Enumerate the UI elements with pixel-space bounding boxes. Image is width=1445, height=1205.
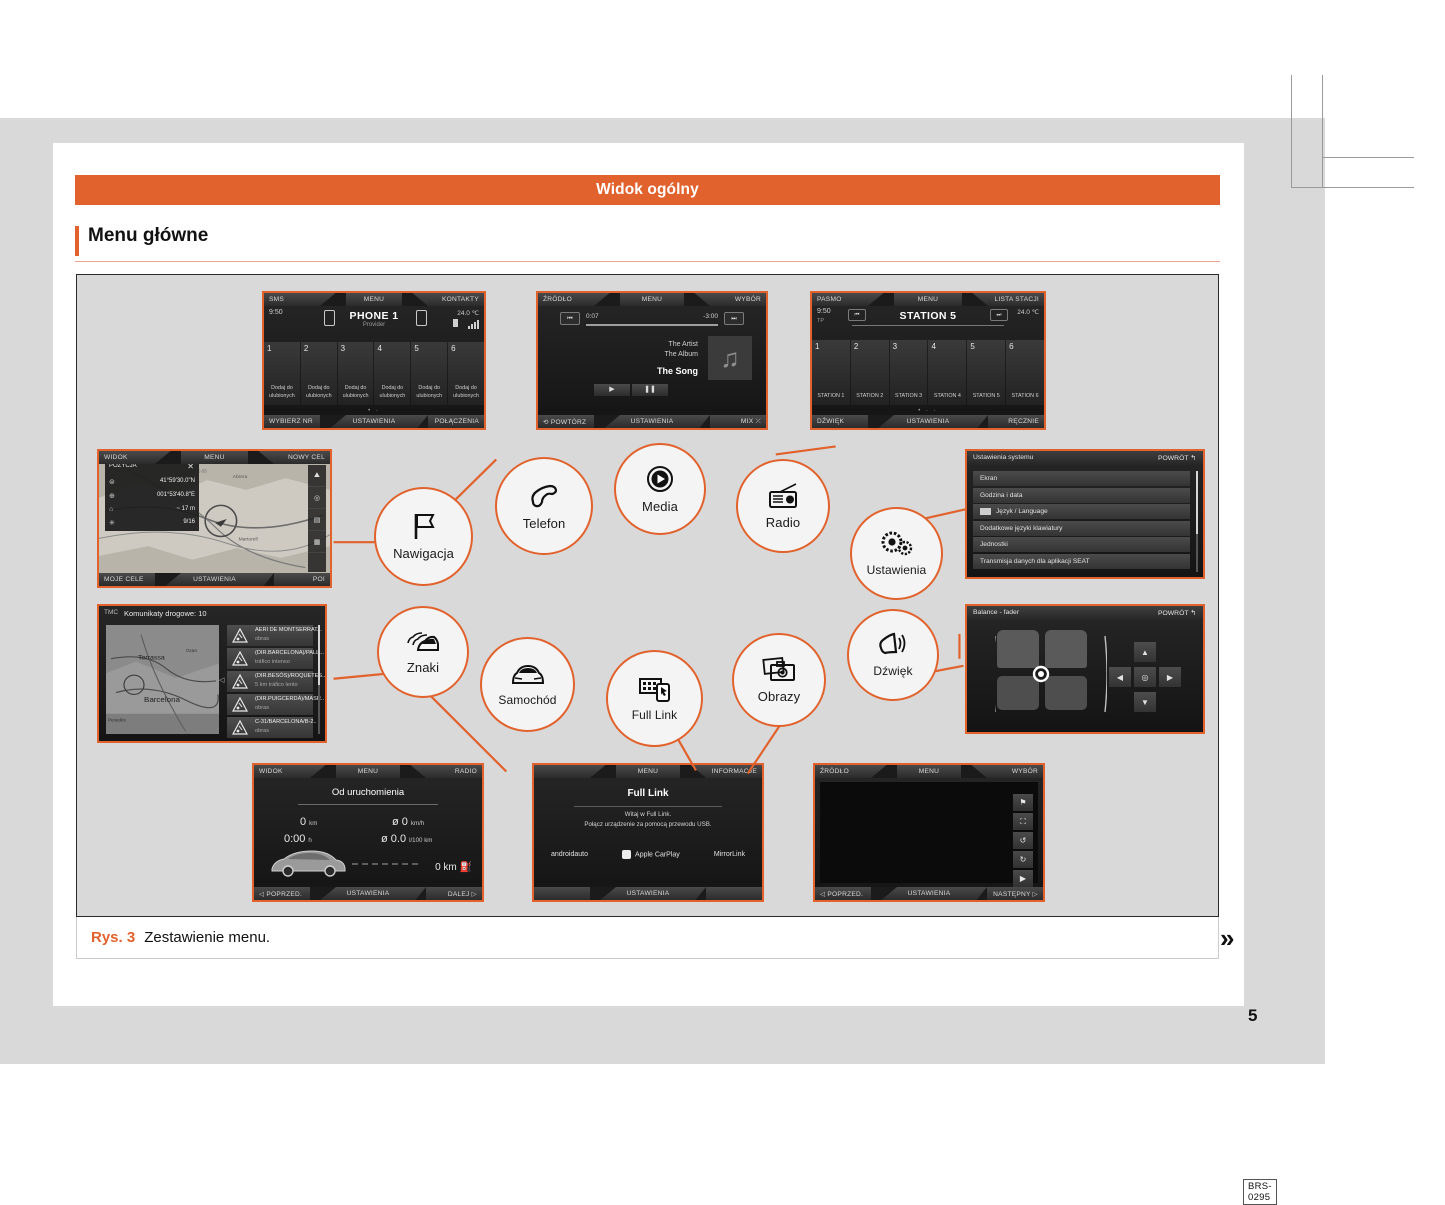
svg-text:Barcelona: Barcelona — [144, 695, 181, 704]
node-telefon[interactable]: Telefon — [495, 457, 593, 555]
node-znaki[interactable]: Znaki — [377, 606, 469, 698]
media-bottom-center[interactable]: USTAWIENIA — [538, 418, 766, 425]
phone-favourite-3[interactable]: 3 Dodaj do ulubionych — [338, 342, 374, 405]
preset-number: 5 — [414, 344, 418, 353]
carplay-chip-icon — [622, 850, 631, 859]
compass-icon[interactable]: ◎ — [308, 487, 326, 509]
fulllink-welcome: Witaj w Full Link. — [534, 811, 762, 818]
page-header-bar: Widok ogólny — [75, 175, 1220, 205]
radio-pager-dots: • · · — [812, 408, 1044, 414]
screen-images[interactable]: ŹRÓDŁO MENU WYBÓR ⚑ ⛶ ↺ ↻ ▶ ◁ POPRZED. U… — [813, 763, 1045, 902]
screen-media[interactable]: ŹRÓDŁO MENU WYBÓR ⏮ 0:07 -3:00 ⏭ The Art… — [536, 291, 768, 430]
media-album: The Album — [578, 350, 698, 360]
shuffle-icon: ⤫ — [753, 418, 761, 425]
trip-top-center[interactable]: MENU — [254, 768, 482, 775]
settings-back-label: POWRÓT — [1158, 455, 1188, 462]
trip-range: 0 km ⛽ — [435, 862, 472, 873]
images-top-right[interactable]: WYBÓR — [1012, 768, 1038, 775]
images-top-center[interactable]: MENU — [815, 768, 1043, 775]
balance-fader-header: Balance - fader POWRÓT ↰ — [967, 606, 1203, 620]
node-label: Full Link — [632, 708, 678, 722]
navigation-top-right[interactable]: NOWY CEL — [288, 454, 325, 461]
fuel-pump-icon: ⛽ — [460, 862, 472, 873]
media-transport-controls: ▶ ❚❚ — [594, 384, 668, 396]
balance-fader-title: Balance - fader — [973, 609, 1019, 616]
fullscreen-tool-icon[interactable]: ⛶ — [1013, 813, 1033, 830]
settings-row-language[interactable]: Język / Language — [973, 504, 1190, 519]
play-circle-icon — [646, 465, 674, 497]
phone-bottom-bar: WYBIERZ NR USTAWIENIA POŁĄCZENIA — [264, 415, 484, 428]
radio-presets-row: 1 STATION 1 2 STATION 2 3 STATION 3 4 ST… — [812, 340, 1044, 405]
radio-top-right[interactable]: LISTA STACJI — [994, 296, 1039, 303]
trip-bottom-right[interactable]: DALEJ ▷ — [448, 890, 477, 898]
preset-label: Dodaj do ulubionych — [264, 385, 300, 400]
phone-title: PHONE 1 — [264, 310, 484, 322]
apple-carplay-logo: Apple CarPlay — [622, 850, 680, 859]
collapse-left-icon[interactable]: ◁ — [219, 676, 224, 684]
tmc-item[interactable]: AERI DE MONTSERRAT... obras — [227, 625, 313, 646]
trip-avg-consumption: ø 0.0l/100 km — [381, 829, 432, 847]
screen-radio[interactable]: PASMO MENU LISTA STACJI 9:50 TP ⏮ STATIO… — [810, 291, 1046, 430]
images-top-bar: ŹRÓDŁO MENU WYBÓR — [815, 765, 1043, 778]
phone-favourite-2[interactable]: 2 Dodaj do ulubionych — [301, 342, 337, 405]
mirrorlink-logo: MirrorLink — [714, 851, 745, 858]
tmc-header: TMC Komunikaty drogowe: 10 — [99, 606, 325, 621]
navigation-top-bar: WIDOK MENU NOWY CEL — [99, 451, 330, 464]
roadworks-warning-icon — [232, 674, 248, 689]
phone-status-area: 9:50 PHONE 1 Provider 24.0 ℃ — [264, 306, 484, 338]
settings-row-label: Jednostki — [980, 541, 1008, 548]
radio-bottom-bar: DŹWIĘK USTAWIENIA RĘCZNIE — [812, 415, 1044, 428]
node-label: Obrazy — [758, 689, 801, 704]
settings-row-keyboard-languages[interactable]: Dodatkowe języki klawiatury — [973, 521, 1190, 536]
trip-body: Od uruchomienia 0km 0:00h ø 0km/h ø 0.0l… — [254, 778, 482, 887]
trip-avg-speed-value: ø 0 — [392, 816, 408, 828]
crop-mark-vertical-1 — [1291, 75, 1292, 188]
settings-back-button[interactable]: POWRÓT ↰ — [1158, 454, 1196, 462]
roadworks-warning-icon — [232, 697, 248, 712]
preset-number: 6 — [1009, 342, 1013, 351]
balance-right-button[interactable]: ▶ — [1159, 667, 1181, 687]
position-row-gps: ✳ 9/16 — [109, 518, 195, 531]
section-accent-bar — [75, 226, 79, 256]
node-label: Ustawienia — [867, 563, 927, 577]
balance-fader-dpad: ▲ ◀ ◎ ▶ ▼ — [1109, 642, 1181, 712]
settings-title: Ustawienia systemu — [973, 454, 1033, 461]
media-body: ⏮ 0:07 -3:00 ⏭ The Artist The Album The … — [538, 306, 766, 415]
trip-bottom-bar: ◁ POPRZED. USTAWIENIA DALEJ ▷ — [254, 887, 482, 900]
tmc-item-title: (DIR.BARCELONA)/PALL... — [255, 650, 324, 656]
fulllink-bottom-center[interactable]: USTAWIENIA — [534, 890, 762, 897]
trip-title: Od uruchomienia — [254, 787, 482, 798]
balance-point-icon — [995, 630, 1107, 718]
fulllink-top-bar: MENU INFORMACJE — [534, 765, 762, 778]
roadworks-warning-icon — [232, 651, 248, 666]
media-progress-area: ⏮ 0:07 -3:00 ⏭ — [560, 313, 744, 331]
phone-temperature: 24.0 ℃ — [457, 309, 479, 317]
preset-label: STATION 4 — [928, 393, 966, 400]
fulllink-divider — [574, 806, 722, 807]
phone-provider: Provider — [264, 322, 484, 328]
signal-bars-icon — [468, 320, 479, 329]
phone-favourite-1[interactable]: 1 Dodaj do ulubionych — [264, 342, 300, 405]
position-row-latitude: ⊜ 41°59'30.0"N — [109, 477, 195, 490]
skip-back-icon[interactable]: ⏮ — [560, 312, 580, 325]
fulllink-top-right[interactable]: INFORMACJE — [712, 768, 757, 775]
media-top-bar: ŹRÓDŁO MENU WYBÓR — [538, 293, 766, 306]
cars-stack-icon — [406, 630, 440, 658]
media-progress-bar[interactable] — [586, 324, 718, 326]
radio-status-area: 9:50 TP ⏮ STATION 5 ⏭ 24.0 ℃ — [812, 306, 1044, 336]
node-label: Samochód — [498, 693, 556, 707]
fader-up-button[interactable]: ▲ — [1134, 642, 1156, 662]
media-elapsed: 0:07 — [586, 313, 599, 320]
tmc-item[interactable]: (DIR.BARCELONA)/PALL... tráfico intenso — [227, 648, 313, 669]
balance-fader-back-button[interactable]: POWRÓT ↰ — [1158, 609, 1196, 617]
photos-camera-icon — [762, 657, 796, 687]
radio-temperature: 24.0 ℃ — [1017, 308, 1039, 316]
tmc-message-list: AERI DE MONTSERRAT... obras (DIR.BARCELO… — [227, 625, 313, 734]
gps-icon: ✳ — [109, 519, 115, 527]
speaker-waves-icon — [877, 632, 909, 662]
preset-number: 6 — [451, 344, 455, 353]
flag-icon — [980, 508, 991, 515]
car-side-icon — [268, 847, 348, 877]
settings-row-label: Transmisja danych dla aplikacji SEAT — [980, 558, 1090, 565]
node-obrazy[interactable]: Obrazy — [732, 633, 826, 727]
screen-system-settings[interactable]: Ustawienia systemu POWRÓT ↰ Ekran Godzin… — [965, 449, 1205, 579]
layers-icon[interactable]: ▦ — [308, 531, 326, 553]
android-auto-logo: androidauto — [551, 851, 588, 858]
trip-avg-consumption-value: ø 0.0 — [381, 833, 406, 845]
figure-code: BRS-0295 — [1243, 1179, 1277, 1205]
node-label: Dźwięk — [873, 664, 912, 678]
longitude-icon: ⊕ — [109, 492, 115, 500]
figure-diagram: SMS MENU KONTAKTY 9:50 PHONE 1 Provider … — [76, 274, 1219, 917]
phone-favourite-6[interactable]: 6 Dodaj do ulubionych — [448, 342, 484, 405]
altitude-icon: ⌂ — [109, 506, 113, 513]
radio-bottom-right[interactable]: RĘCZNIE — [1008, 418, 1039, 425]
trip-avg-speed: ø 0km/h — [392, 812, 424, 830]
node-nawigacja[interactable]: Nawigacja — [374, 487, 473, 586]
phone-body: 9:50 PHONE 1 Provider 24.0 ℃ 1 Dodaj do … — [264, 306, 484, 415]
phone-favourites-row: 1 Dodaj do ulubionych 2 Dodaj do ulubion… — [264, 342, 484, 405]
node-label: Media — [642, 499, 678, 514]
radio-seek-up-icon[interactable]: ⏭ — [990, 309, 1008, 321]
fulllink-title: Full Link — [534, 788, 762, 799]
tmc-item-sub: 5 km tráfico lento — [255, 682, 298, 688]
preset-label: STATION 2 — [851, 393, 889, 400]
radio-preset-5[interactable]: 5 STATION 5 — [967, 340, 1005, 405]
media-artist: The Artist — [578, 340, 698, 350]
return-arrow-icon: ↰ — [1190, 455, 1196, 462]
preset-number: 3 — [893, 342, 897, 351]
radio-preset-4[interactable]: 4 STATION 4 — [928, 340, 966, 405]
radio-preset-3[interactable]: 3 STATION 3 — [890, 340, 928, 405]
screen-trip-computer[interactable]: WIDOK MENU RADIO Od uruchomienia 0km 0:0… — [252, 763, 484, 902]
preset-number: 1 — [815, 342, 819, 351]
figure-caption: Rys. 3 Zestawienie menu. — [76, 917, 1219, 959]
position-panel: POZYCJA ✕ ⊜ 41°59'30.0"N ⊕ 001°53'40.8"E… — [105, 461, 199, 531]
trip-time-unit: h — [308, 837, 311, 844]
latitude-value: 41°59'30.0"N — [160, 478, 195, 484]
preset-label: STATION 1 — [812, 393, 850, 400]
scale-icon[interactable]: ▤ — [308, 509, 326, 531]
settings-header: Ustawienia systemu POWRÓT ↰ — [967, 451, 1203, 465]
altitude-value: ~ 17 m — [176, 506, 195, 512]
flag-icon — [411, 512, 437, 544]
trip-distance-value: 0 — [300, 816, 306, 828]
radio-body: 9:50 TP ⏮ STATION 5 ⏭ 24.0 ℃ 1 STATION 1… — [812, 306, 1044, 415]
trip-range-value: 0 km — [435, 862, 457, 873]
preset-label: Dodaj do ulubionych — [301, 385, 337, 400]
images-body: ⚑ ⛶ ↺ ↻ ▶ — [815, 778, 1043, 887]
images-bottom-bar: ◁ POPRZED. USTAWIENIA NASTĘPNY ▷ — [815, 887, 1043, 900]
sim-icon — [453, 319, 458, 327]
tmc-item[interactable]: (DIR.BESÓS)/ROQUETES.. 5 km tráfico lent… — [227, 671, 313, 692]
balance-fader-back-label: POWRÓT — [1158, 610, 1188, 617]
page-header-title: Widok ogólny — [596, 181, 699, 199]
tmc-item-sub: obras — [255, 705, 269, 711]
media-metadata: The Artist The Album The Song — [578, 340, 698, 376]
trip-top-bar: WIDOK MENU RADIO — [254, 765, 482, 778]
preset-number: 1 — [267, 344, 271, 353]
continuation-chevron: » — [1220, 925, 1234, 951]
trip-values: 0km 0:00h ø 0km/h ø 0.0l/100 km — [254, 812, 482, 848]
trip-time-value: 0:00 — [284, 833, 305, 845]
pause-icon[interactable]: ❚❚ — [632, 384, 668, 396]
images-next-label: NASTĘPNY — [993, 891, 1030, 898]
section-heading: Menu główne — [75, 225, 1220, 261]
preset-label: Dodaj do ulubionych — [448, 385, 484, 400]
tmc-item[interactable]: C-31/BARCELONA/B-2.. obras — [227, 717, 313, 738]
section-title: Menu główne — [88, 225, 208, 247]
screen-full-link[interactable]: MENU INFORMACJE Full Link Witaj w Full L… — [532, 763, 764, 902]
phone-favourite-5[interactable]: 5 Dodaj do ulubionych — [411, 342, 447, 405]
tmc-map-graphic: Terrassa Barcelona Gran Penedès — [106, 625, 219, 734]
settings-row-units[interactable]: Jednostki — [973, 537, 1190, 552]
radio-icon — [767, 483, 799, 513]
radio-top-bar: PASMO MENU LISTA STACJI — [812, 293, 1044, 306]
gears-icon — [880, 531, 914, 561]
phone-bottom-right[interactable]: POŁĄCZENIA — [435, 418, 479, 425]
preset-number: 3 — [341, 344, 345, 353]
image-viewer-canvas[interactable] — [820, 782, 1038, 883]
node-dzwiek[interactable]: Dźwięk — [847, 609, 939, 701]
rotate-left-tool-icon[interactable]: ↺ — [1013, 832, 1033, 849]
tmc-item-sub: obras — [255, 728, 269, 734]
balance-left-button[interactable]: ◀ — [1109, 667, 1131, 687]
radio-preset-2[interactable]: 2 STATION 2 — [851, 340, 889, 405]
car-front-icon — [511, 663, 545, 691]
tmc-tag: TMC — [104, 609, 118, 616]
preset-label: Dodaj do ulubionych — [411, 385, 447, 400]
apple-carplay-label: Apple CarPlay — [635, 851, 680, 858]
preset-number: 2 — [304, 344, 308, 353]
settings-scrollbar[interactable] — [1196, 471, 1198, 572]
trip-time: 0:00h — [284, 829, 312, 847]
node-media[interactable]: Media — [614, 443, 706, 535]
tmc-item-title: (DIR.BESÓS)/ROQUETES.. — [255, 673, 325, 679]
node-label: Znaki — [407, 660, 439, 675]
fulllink-logos: androidauto Apple CarPlay MirrorLink — [534, 850, 762, 859]
navigation-bottom-right[interactable]: POI — [313, 576, 325, 583]
keyboard-phone-icon — [638, 676, 672, 706]
preset-number: 2 — [854, 342, 858, 351]
fulllink-bottom-bar: USTAWIENIA — [534, 887, 762, 900]
tmc-title: Komunikaty drogowe: 10 — [124, 609, 207, 618]
play-tool-icon[interactable]: ▶ — [1013, 870, 1033, 887]
screen-phone[interactable]: SMS MENU KONTAKTY 9:50 PHONE 1 Provider … — [262, 291, 486, 430]
flag-tool-icon[interactable]: ⚑ — [1013, 794, 1033, 811]
preset-label: STATION 6 — [1006, 393, 1044, 400]
skip-forward-icon[interactable]: ⏭ — [724, 312, 744, 325]
preset-number: 5 — [970, 342, 974, 351]
svg-text:Gran: Gran — [186, 648, 197, 654]
roadworks-warning-icon — [232, 628, 248, 643]
return-arrow-icon: ↰ — [1190, 610, 1196, 617]
settings-list: Ekran Godzina i data Język / Language Do… — [973, 471, 1190, 572]
phone-device-icon-right — [416, 310, 427, 326]
trip-divider — [298, 804, 438, 805]
phone-handset-icon — [529, 482, 559, 514]
preset-label: STATION 5 — [967, 393, 1005, 400]
preset-label: Dodaj do ulubionych — [374, 385, 410, 400]
figure-label: Rys. 3 — [91, 929, 135, 946]
rotate-right-tool-icon[interactable]: ↻ — [1013, 851, 1033, 868]
cabin-seat-diagram[interactable] — [995, 630, 1107, 718]
preset-number: 4 — [931, 342, 935, 351]
figure-caption-text: Zestawienie menu. — [144, 929, 270, 946]
settings-row-label: Godzina i data — [980, 492, 1023, 499]
position-row-altitude: ⌂ ~ 17 m — [109, 505, 195, 518]
trip-avg-consumption-unit: l/100 km — [409, 837, 432, 844]
svg-text:Abrera: Abrera — [233, 474, 248, 480]
screen-balance-fader[interactable]: Balance - fader POWRÓT ↰ ▲ ◀ ◎ ▶ — [965, 604, 1205, 734]
crop-mark-vertical-2 — [1322, 75, 1323, 188]
node-full-link[interactable]: Full Link — [606, 650, 703, 747]
trip-range-dashes — [352, 863, 418, 865]
page-number: 5 — [1248, 1006, 1257, 1026]
fader-down-button[interactable]: ▼ — [1134, 692, 1156, 712]
preset-label: STATION 3 — [890, 393, 928, 400]
media-top-center[interactable]: MENU — [538, 296, 766, 303]
media-mix-label: MIX — [741, 418, 753, 425]
tmc-item-title: (DIR.PUIGCERDÀ)/MASR.. — [255, 696, 324, 702]
crop-mark-horizontal-2 — [1322, 157, 1414, 158]
settings-row-time-date[interactable]: Godzina i data — [973, 488, 1190, 503]
node-ustawienia[interactable]: Ustawienia — [850, 507, 943, 600]
tmc-scrollbar[interactable] — [318, 625, 320, 734]
trip-top-right[interactable]: RADIO — [455, 768, 477, 775]
trip-next-label: DALEJ — [448, 891, 470, 898]
settings-row-label: Ekran — [980, 475, 997, 482]
phone-top-bar: SMS MENU KONTAKTY — [264, 293, 484, 306]
navigation-side-toolbar: ⛰ ◎ ▤ ▦ — [308, 465, 326, 572]
media-song: The Song — [578, 366, 698, 376]
latitude-icon: ⊜ — [109, 478, 115, 486]
position-row-longitude: ⊕ 001°53'40.8"E — [109, 491, 195, 504]
settings-row-label: Dodatkowe języki klawiatury — [980, 525, 1062, 532]
preset-number: 4 — [377, 344, 381, 353]
settings-row-label: Język / Language — [996, 508, 1048, 515]
phone-favourite-4[interactable]: 4 Dodaj do ulubionych — [374, 342, 410, 405]
media-bottom-bar: ⟲ POWTÓRZ USTAWIENIA MIX ⤫ — [538, 415, 766, 428]
preset-label: Dodaj do ulubionych — [338, 385, 374, 400]
radio-station-name: STATION 5 — [812, 310, 1044, 322]
settings-row-screen[interactable]: Ekran — [973, 471, 1190, 486]
images-bottom-right[interactable]: NASTĘPNY ▷ — [993, 890, 1038, 898]
node-label: Nawigacja — [393, 546, 454, 561]
tmc-item-sub: tráfico intenso — [255, 659, 290, 665]
phone-top-right[interactable]: KONTAKTY — [442, 296, 479, 303]
tmc-item-title: C-31/BARCELONA/B-2.. — [255, 719, 317, 725]
node-label: Radio — [766, 515, 800, 530]
media-remaining: -3:00 — [703, 313, 718, 320]
trip-avg-speed-unit: km/h — [411, 820, 424, 827]
longitude-value: 001°53'40.8"E — [157, 492, 195, 498]
balance-center-button[interactable]: ◎ — [1134, 667, 1156, 687]
image-tool-strip: ⚑ ⛶ ↺ ↻ ▶ — [1013, 794, 1033, 889]
radio-underline — [852, 325, 1004, 326]
navigation-map[interactable]: Abrera Martorell C-55 POZYCJA ✕ ⊜ 41°59'… — [99, 451, 330, 586]
radio-preset-1[interactable]: 1 STATION 1 — [812, 340, 850, 405]
navigation-bottom-bar: MOJE CELE USTAWIENIA POI — [99, 573, 330, 586]
tmc-item[interactable]: (DIR.PUIGCERDÀ)/MASR.. obras — [227, 694, 313, 715]
section-divider — [75, 261, 1220, 262]
gps-value: 9/16 — [183, 519, 195, 525]
navigation-bottom-center[interactable]: USTAWIENIA — [99, 576, 330, 583]
fulllink-instruction: Połącz urządzenie za pomocą przewodu USB… — [534, 821, 762, 828]
tmc-item-title: AERI DE MONTSERRAT... — [255, 627, 322, 633]
tmc-item-sub: obras — [255, 636, 269, 642]
tmc-map[interactable]: Terrassa Barcelona Gran Penedès — [106, 625, 219, 734]
play-icon[interactable]: ▶ — [594, 384, 630, 396]
radio-preset-6[interactable]: 6 STATION 6 — [1006, 340, 1044, 405]
node-samochod[interactable]: Samochód — [480, 637, 575, 732]
screen-navigation[interactable]: Abrera Martorell C-55 POZYCJA ✕ ⊜ 41°59'… — [97, 449, 332, 588]
map-3d-icon[interactable]: ⛰ — [308, 465, 326, 487]
svg-text:Penedès: Penedès — [108, 718, 127, 723]
settings-row-data-transfer[interactable]: Transmisja danych dla aplikacji SEAT — [973, 554, 1190, 569]
node-radio[interactable]: Radio — [736, 459, 830, 553]
crop-mark-horizontal-1 — [1291, 187, 1414, 188]
music-note-icon: ♫ — [708, 336, 752, 380]
trip-distance: 0km — [300, 812, 317, 830]
media-top-right[interactable]: WYBÓR — [735, 296, 761, 303]
media-bottom-right[interactable]: MIX ⤫ — [741, 418, 761, 426]
trip-distance-unit: km — [309, 820, 317, 827]
node-label: Telefon — [523, 516, 566, 531]
phone-pager-dots: • · — [264, 408, 484, 414]
roadworks-warning-icon — [232, 720, 248, 735]
svg-text:Terrassa: Terrassa — [138, 655, 165, 662]
fulllink-body: Full Link Witaj w Full Link. Połącz urzą… — [534, 778, 762, 887]
svg-text:Martorell: Martorell — [239, 536, 258, 542]
screen-tmc[interactable]: TMC Komunikaty drogowe: 10 Terrassa Barc… — [97, 604, 327, 743]
